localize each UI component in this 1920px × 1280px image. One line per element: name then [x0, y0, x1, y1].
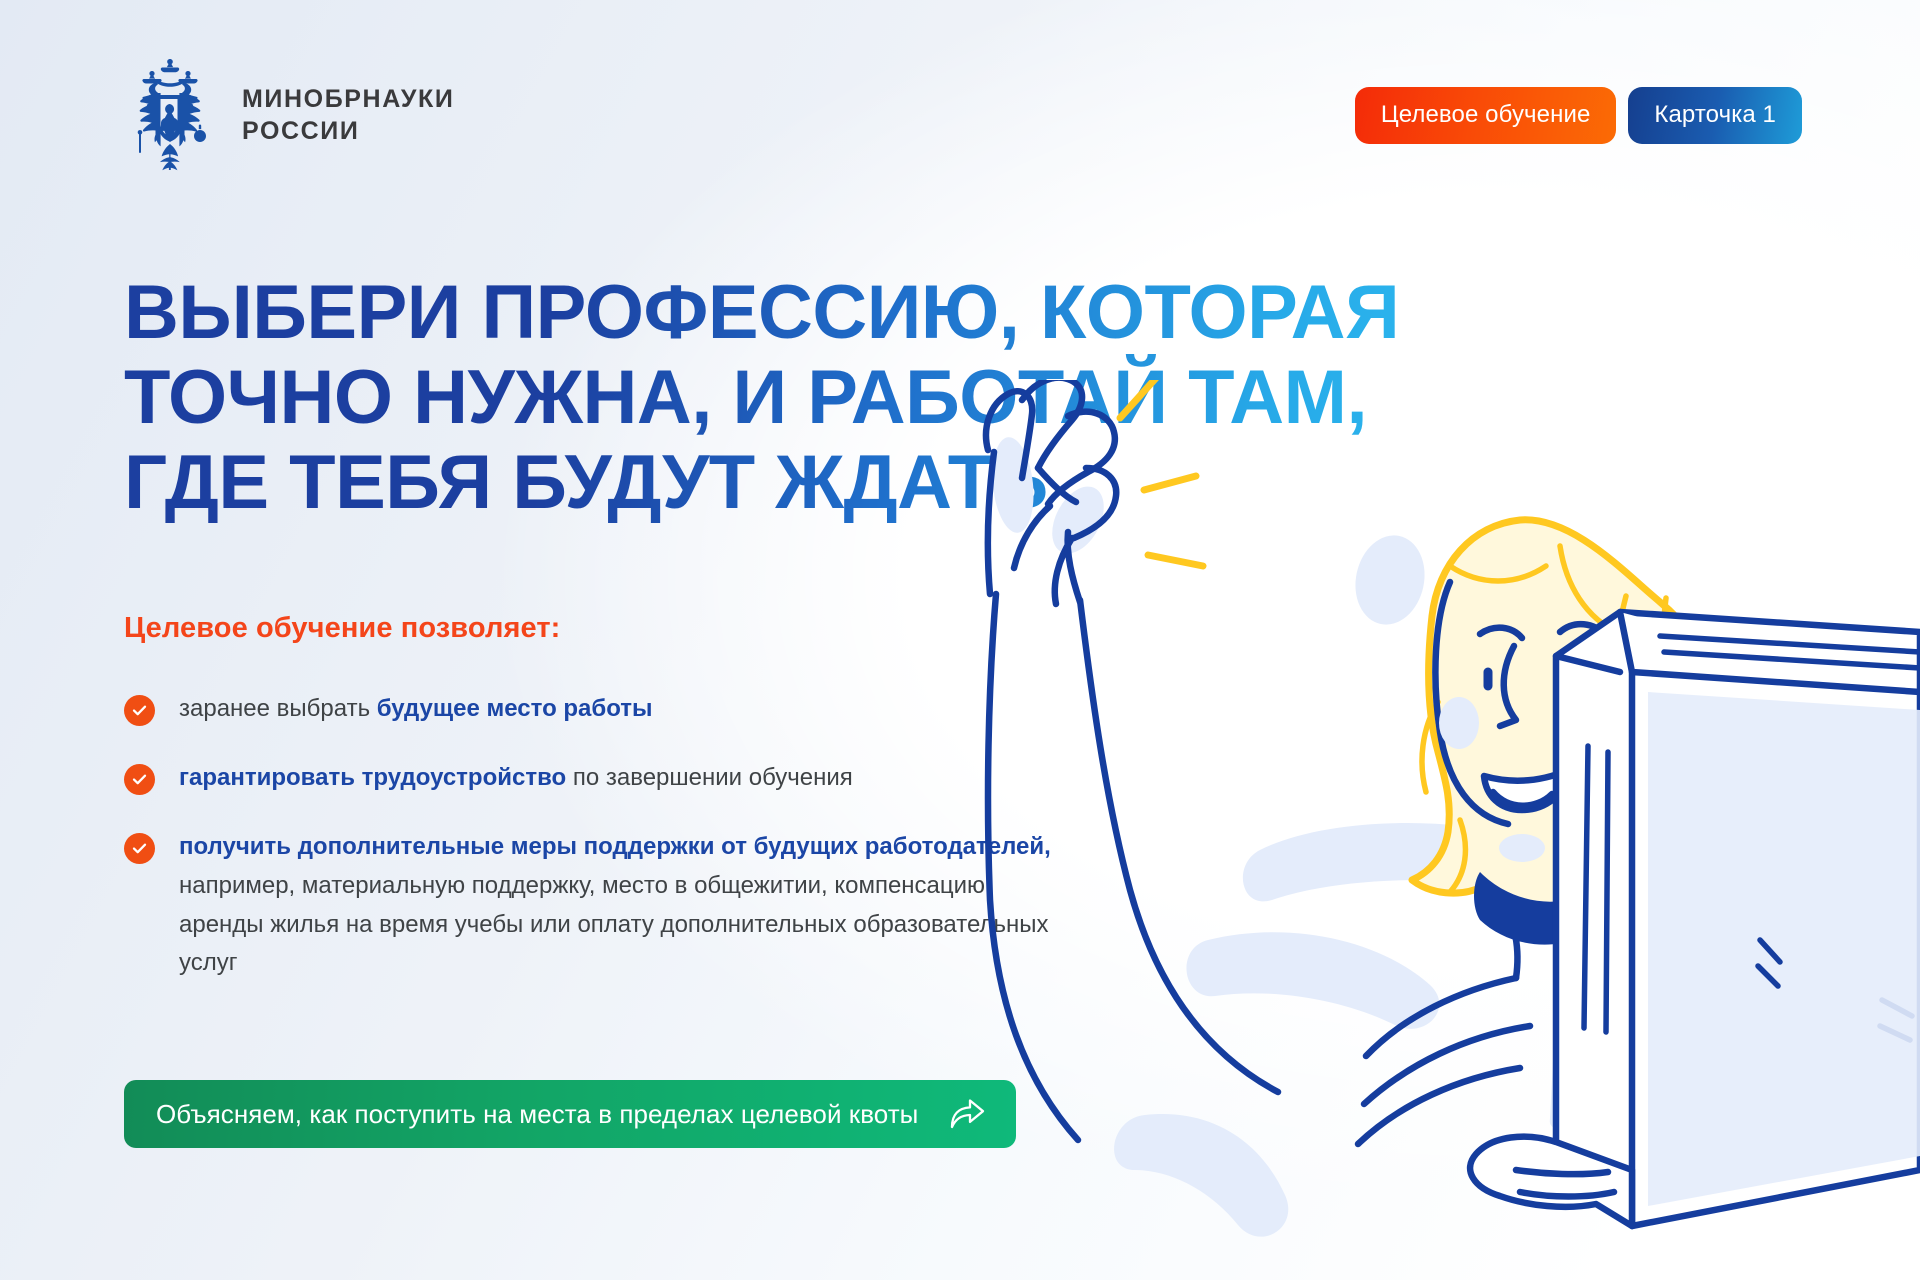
list-item-text: получить дополнительные меры поддержки о… — [179, 828, 1074, 984]
check-circle-icon — [124, 695, 155, 726]
brand-name: МИНОБРНАУКИ РОССИИ — [242, 83, 454, 147]
header-badges: Целевое обучение Карточка 1 — [1355, 87, 1802, 144]
list-item-text: гарантировать трудоустройство по заверше… — [179, 759, 853, 798]
list-item-text: заранее выбрать будущее место работы — [179, 690, 653, 729]
headline-line-2: ТОЧНО НУЖНА, И РАБОТАЙ ТАМ, — [124, 355, 1544, 440]
list-item: гарантировать трудоустройство по заверше… — [124, 759, 1074, 798]
cta-button[interactable]: Объясняем, как поступить на места в пред… — [124, 1080, 1016, 1148]
bullet-1-plain: заранее выбрать — [179, 695, 377, 722]
check-circle-icon — [124, 833, 155, 864]
cta-label: Объясняем, как поступить на места в пред… — [156, 1099, 918, 1130]
share-arrow-icon — [948, 1097, 986, 1131]
list-item: заранее выбрать будущее место работы — [124, 690, 1074, 729]
list-item: получить дополнительные меры поддержки о… — [124, 828, 1074, 984]
russian-coat-of-arms-icon — [124, 56, 216, 174]
headline-line-3: ГДЕ ТЕБЯ БУДУТ ЖДАТЬ — [124, 440, 1544, 525]
check-circle-icon — [124, 764, 155, 795]
bullet-2-strong: гарантировать трудоустройство — [179, 764, 566, 791]
headline-line-1: ВЫБЕРИ ПРОФЕССИЮ, КОТОРАЯ — [124, 270, 1544, 355]
bullet-3-strong: получить дополнительные меры поддержки о… — [179, 833, 1051, 860]
benefits-list: заранее выбрать будущее место работы гар… — [124, 690, 1074, 1013]
bullet-3-plain: например, материальную поддержку, место … — [179, 872, 1049, 977]
badge-card-number[interactable]: Карточка 1 — [1628, 87, 1802, 144]
bullet-2-plain: по завершении обучения — [566, 764, 853, 791]
bullet-1-strong: будущее место работы — [377, 695, 653, 722]
badge-target-education[interactable]: Целевое обучение — [1355, 87, 1617, 144]
page-header: МИНОБРНАУКИ РОССИИ Целевое обучение Карт… — [0, 0, 1920, 230]
section-subtitle: Целевое обучение позволяет: — [124, 612, 560, 645]
brand: МИНОБРНАУКИ РОССИИ — [124, 56, 454, 174]
page-title: ВЫБЕРИ ПРОФЕССИЮ, КОТОРАЯ ТОЧНО НУЖНА, И… — [124, 270, 1544, 525]
